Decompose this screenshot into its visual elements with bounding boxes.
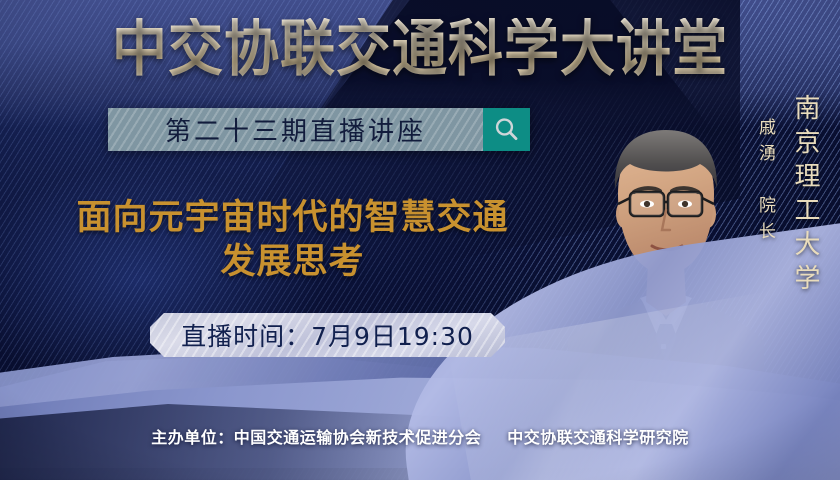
- episode-bar: 第二十三期直播讲座: [108, 108, 530, 151]
- footer-organizer-2: 中交协联交通科学研究院: [507, 428, 689, 447]
- livestream-poster: 中交协联交通科学大讲堂 第二十三期直播讲座 面向元宇宙时代的智慧交通 发展思考 …: [0, 0, 840, 480]
- search-icon[interactable]: [483, 108, 530, 151]
- footer-organizer-1: 中国交通运输协会新技术促进分会: [234, 428, 482, 447]
- episode-label: 第二十三期直播讲座: [165, 111, 426, 148]
- episode-label-container: 第二十三期直播讲座: [108, 108, 483, 151]
- broadcast-time-badge: 直播时间：7月9日19:30: [150, 313, 505, 357]
- headline-line-1: 面向元宇宙时代的智慧交通: [76, 198, 508, 238]
- speaker-name-title: 戚湧 院长: [753, 118, 778, 248]
- broadcast-time-text: 直播时间：7月9日19:30: [181, 317, 474, 353]
- footer-prefix: 主办单位：: [151, 428, 234, 447]
- footer-organizers: 主办单位：中国交通运输协会新技术促进分会中交协联交通科学研究院: [0, 424, 840, 448]
- speaker-organization: 南京理工大学: [787, 94, 824, 298]
- page-title: 中交协联交通科学大讲堂: [0, 18, 840, 80]
- headline-line-2: 发展思考: [30, 240, 555, 284]
- lecture-headline: 面向元宇宙时代的智慧交通 发展思考: [30, 196, 555, 284]
